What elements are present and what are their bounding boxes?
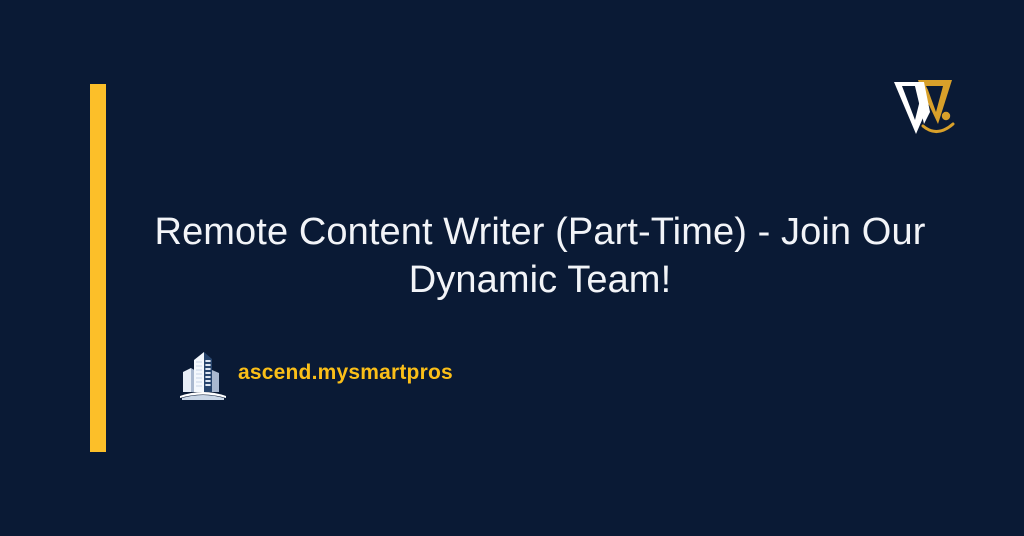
left-accent-bar — [90, 84, 106, 452]
page-title: Remote Content Writer (Part-Time) - Join… — [152, 208, 928, 304]
site-identity[interactable]: ascend.mysmartpros — [180, 346, 453, 400]
brand-logo[interactable] — [890, 72, 970, 140]
city-buildings-icon — [180, 346, 226, 400]
site-domain-label: ascend.mysmartpros — [238, 361, 453, 385]
job-posting-banner: Remote Content Writer (Part-Time) - Join… — [0, 0, 1024, 536]
